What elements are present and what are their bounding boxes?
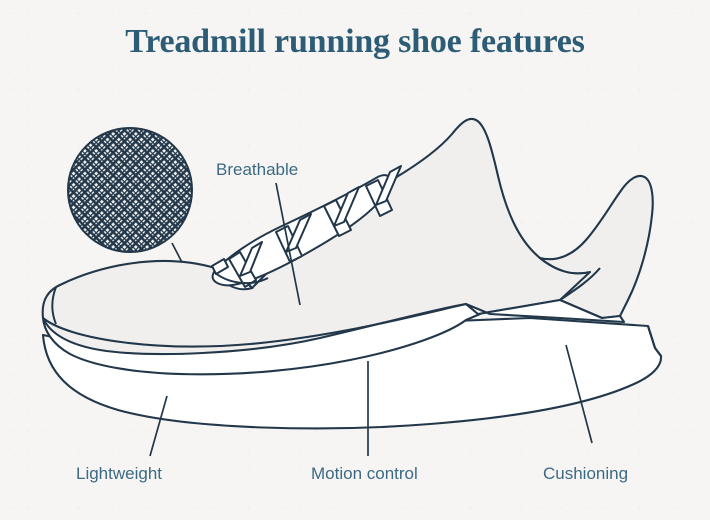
label-lightweight: Lightweight <box>76 464 162 484</box>
label-breathable: Breathable <box>216 160 298 180</box>
label-motion-control: Motion control <box>311 464 418 484</box>
label-cushioning: Cushioning <box>543 464 628 484</box>
infographic-canvas: Treadmill running shoe features <box>0 0 710 520</box>
running-shoe-illustration <box>0 0 710 520</box>
mesh-swatch-group <box>68 128 192 252</box>
